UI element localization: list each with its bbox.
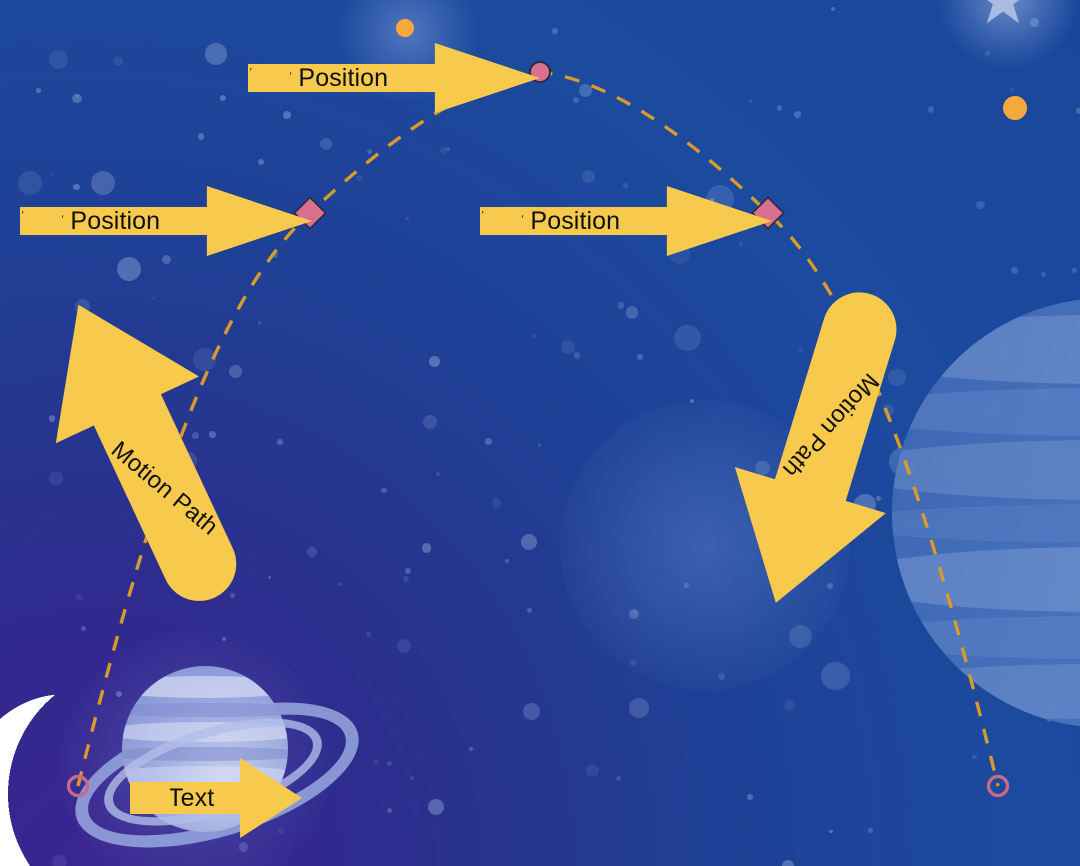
callout-key-position-top-tail	[248, 64, 290, 92]
diagram-canvas: Key Position Key Position Key Position T…	[0, 0, 1080, 866]
callout-key-position-right-tail	[480, 207, 522, 235]
callout-key-position-left-tail	[20, 207, 62, 235]
callout-label: Text	[168, 784, 214, 813]
callout-text-tail	[130, 782, 170, 814]
